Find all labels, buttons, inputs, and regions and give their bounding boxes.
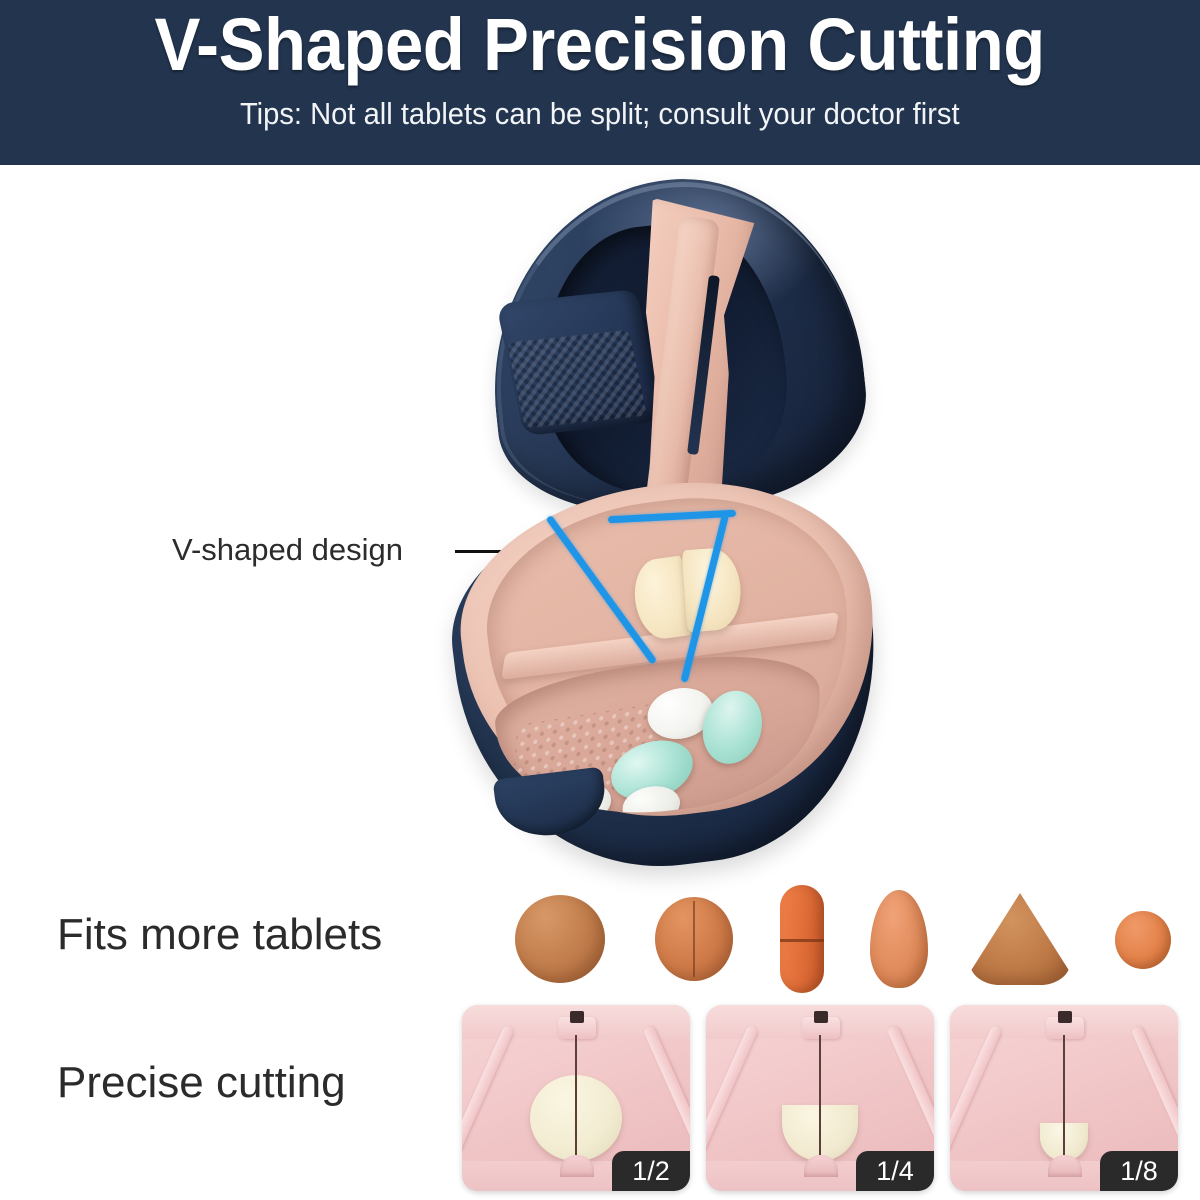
round-tablet-icon — [515, 895, 605, 983]
small-round-tablet-icon — [1115, 911, 1171, 969]
cutting-blade-line — [819, 1035, 821, 1167]
capsule-tablet-score-line — [780, 939, 824, 942]
v-arm-right — [886, 1025, 934, 1165]
oval-tablet-score-line — [693, 901, 695, 977]
v-arm-right — [642, 1025, 690, 1165]
cutting-demo-panels: 1/2 1/4 1/8 — [462, 1005, 1192, 1195]
triangular-tablet-icon — [970, 893, 1070, 985]
page-title: V-Shaped Precision Cutting — [155, 8, 1045, 82]
fraction-badge: 1/4 — [856, 1151, 934, 1191]
cutting-blade-line — [575, 1035, 577, 1167]
panel-foot — [804, 1155, 838, 1177]
fraction-badge: 1/8 — [1100, 1151, 1178, 1191]
cutting-blade-line — [1063, 1035, 1065, 1167]
cutting-demo-panel-quarter: 1/4 — [706, 1005, 934, 1191]
v-arm-left — [706, 1025, 759, 1165]
panel-foot — [560, 1155, 594, 1177]
cutting-demo-panel-half: 1/2 — [462, 1005, 690, 1191]
teardrop-tablet-icon — [870, 890, 928, 988]
panel-hinge-slot — [814, 1011, 828, 1023]
panel-hinge-slot — [570, 1011, 584, 1023]
callout-label-v-shaped-design: V-shaped design — [172, 532, 403, 568]
panel-hinge-slot — [1058, 1011, 1072, 1023]
v-arm-right — [1130, 1025, 1178, 1165]
v-arm-left — [950, 1025, 1003, 1165]
header-subtitle: Tips: Not all tablets can be split; cons… — [240, 96, 960, 132]
pill-shapes-row — [480, 885, 1180, 990]
split-tablet — [630, 548, 744, 642]
feature-label-fits-more-tablets: Fits more tablets — [57, 910, 382, 960]
header-banner: V-Shaped Precision Cutting Tips: Not all… — [0, 0, 1200, 165]
cutting-demo-panel-eighth: 1/8 — [950, 1005, 1178, 1191]
panel-foot — [1048, 1155, 1082, 1177]
product-image-pill-cutter — [430, 165, 930, 895]
feature-label-precise-cutting: Precise cutting — [57, 1058, 346, 1108]
v-arm-left — [462, 1025, 515, 1165]
lid-grip-texture — [507, 330, 647, 429]
fraction-badge: 1/2 — [612, 1151, 690, 1191]
